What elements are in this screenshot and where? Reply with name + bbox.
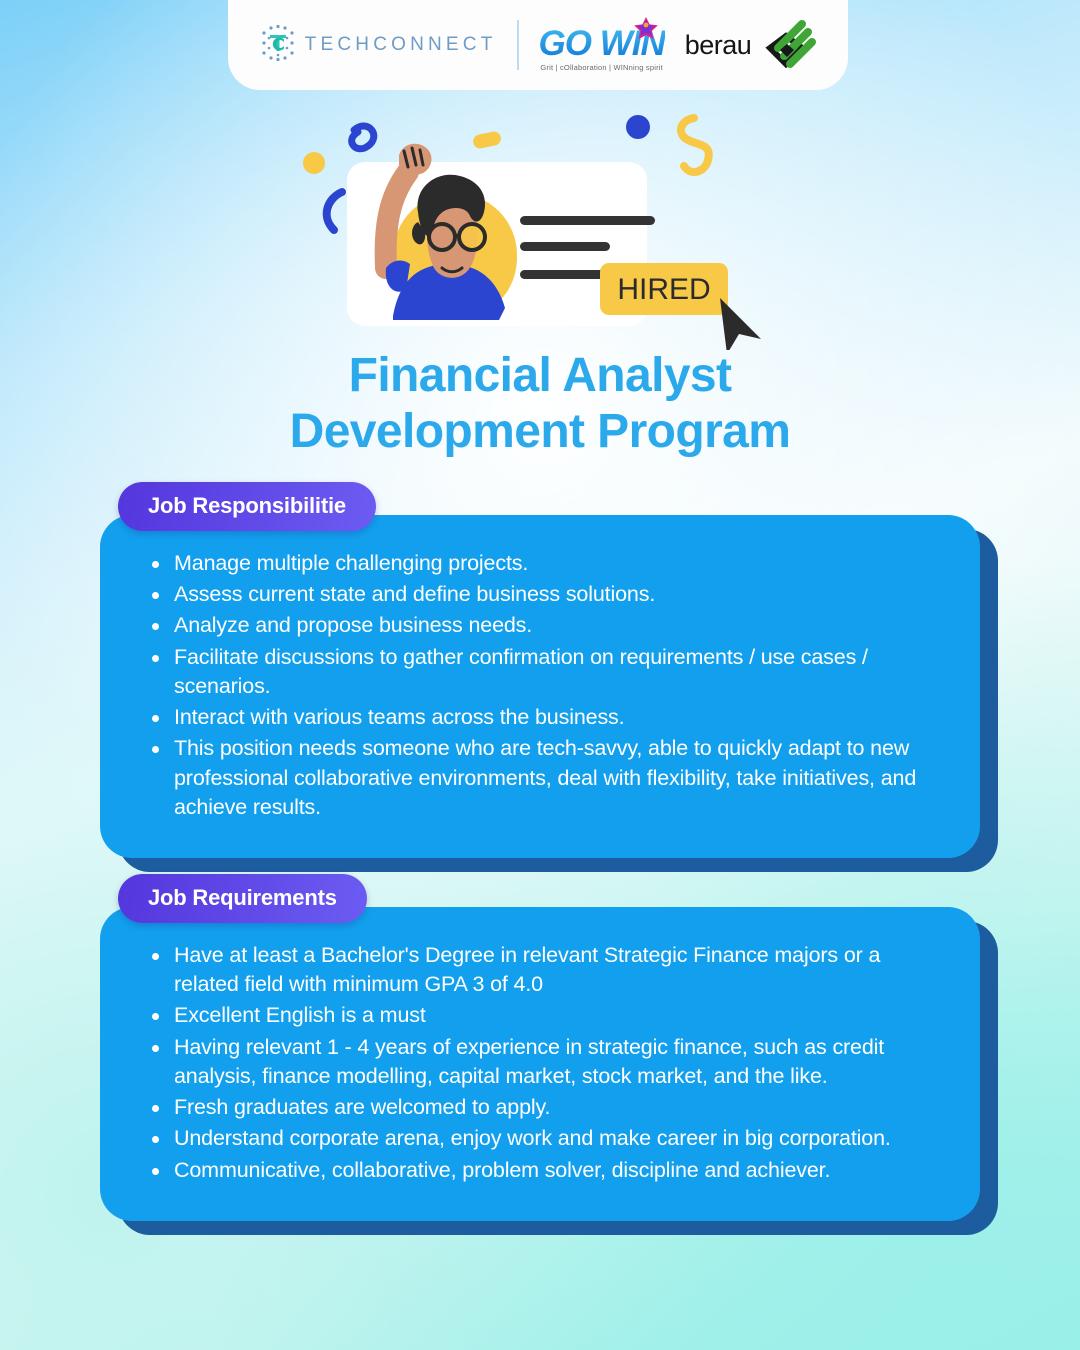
techconnect-mark-icon xyxy=(260,24,296,67)
list-item: Communicative, collaborative, problem so… xyxy=(138,1156,938,1185)
section-badge-responsibilities: Job Responsibilitie xyxy=(118,482,376,531)
card-requirements: Have at least a Bachelor's Degree in rel… xyxy=(100,907,980,1221)
list-item: Understand corporate arena, enjoy work a… xyxy=(138,1124,938,1153)
logo-bar: TECHCONNECT GO WIN Grit | cOllaboration … xyxy=(228,0,848,90)
hired-label: HIRED xyxy=(617,273,710,306)
list-item: Assess current state and define business… xyxy=(138,580,938,609)
berau-wordmark: berau xyxy=(685,30,752,61)
hired-badge: HIRED xyxy=(600,263,728,315)
page-title: Financial Analyst Development Program xyxy=(0,348,1080,459)
logo-gowin: GO WIN Grit | cOllaboration | WINning sp… xyxy=(539,19,665,72)
gowin-star-icon xyxy=(631,16,661,47)
card-wrap-responsibilities: Manage multiple challenging projects. As… xyxy=(0,515,1080,858)
section-requirements: Job Requirements Have at least a Bachelo… xyxy=(0,874,1080,1221)
logo-divider xyxy=(517,20,519,70)
techconnect-wordmark: TECHCONNECT xyxy=(305,34,497,56)
logo-techconnect: TECHCONNECT xyxy=(260,24,497,67)
gowin-tagline: Grit | cOllaboration | WINning spirit xyxy=(539,63,665,72)
list-item: This position needs someone who are tech… xyxy=(138,734,938,822)
list-item: Analyze and propose business needs. xyxy=(138,611,938,640)
list-item: Fresh graduates are welcomed to apply. xyxy=(138,1093,938,1122)
list-item: Manage multiple challenging projects. xyxy=(138,549,938,578)
section-responsibilities: Job Responsibilitie Manage multiple chal… xyxy=(0,482,1080,858)
page-title-line-2: Development Program xyxy=(0,404,1080,460)
poster: TECHCONNECT GO WIN Grit | cOllaboration … xyxy=(0,0,1080,1350)
section-badge-requirements: Job Requirements xyxy=(118,874,367,923)
card-responsibilities: Manage multiple challenging projects. As… xyxy=(100,515,980,858)
list-item: Facilitate discussions to gather confirm… xyxy=(138,643,938,701)
berau-mark-icon xyxy=(756,14,816,77)
requirements-list: Have at least a Bachelor's Degree in rel… xyxy=(138,941,938,1185)
hero-illustration: HIRED xyxy=(290,100,790,350)
cursor-icon xyxy=(720,298,761,350)
list-item: Having relevant 1 - 4 years of experienc… xyxy=(138,1033,938,1091)
card-wrap-requirements: Have at least a Bachelor's Degree in rel… xyxy=(0,907,1080,1221)
list-item: Interact with various teams across the b… xyxy=(138,703,938,732)
logo-berau: berau xyxy=(685,14,817,77)
list-item: Excellent English is a must xyxy=(138,1001,938,1030)
responsibilities-list: Manage multiple challenging projects. As… xyxy=(138,549,938,822)
list-item: Have at least a Bachelor's Degree in rel… xyxy=(138,941,938,999)
page-title-line-1: Financial Analyst xyxy=(0,348,1080,404)
